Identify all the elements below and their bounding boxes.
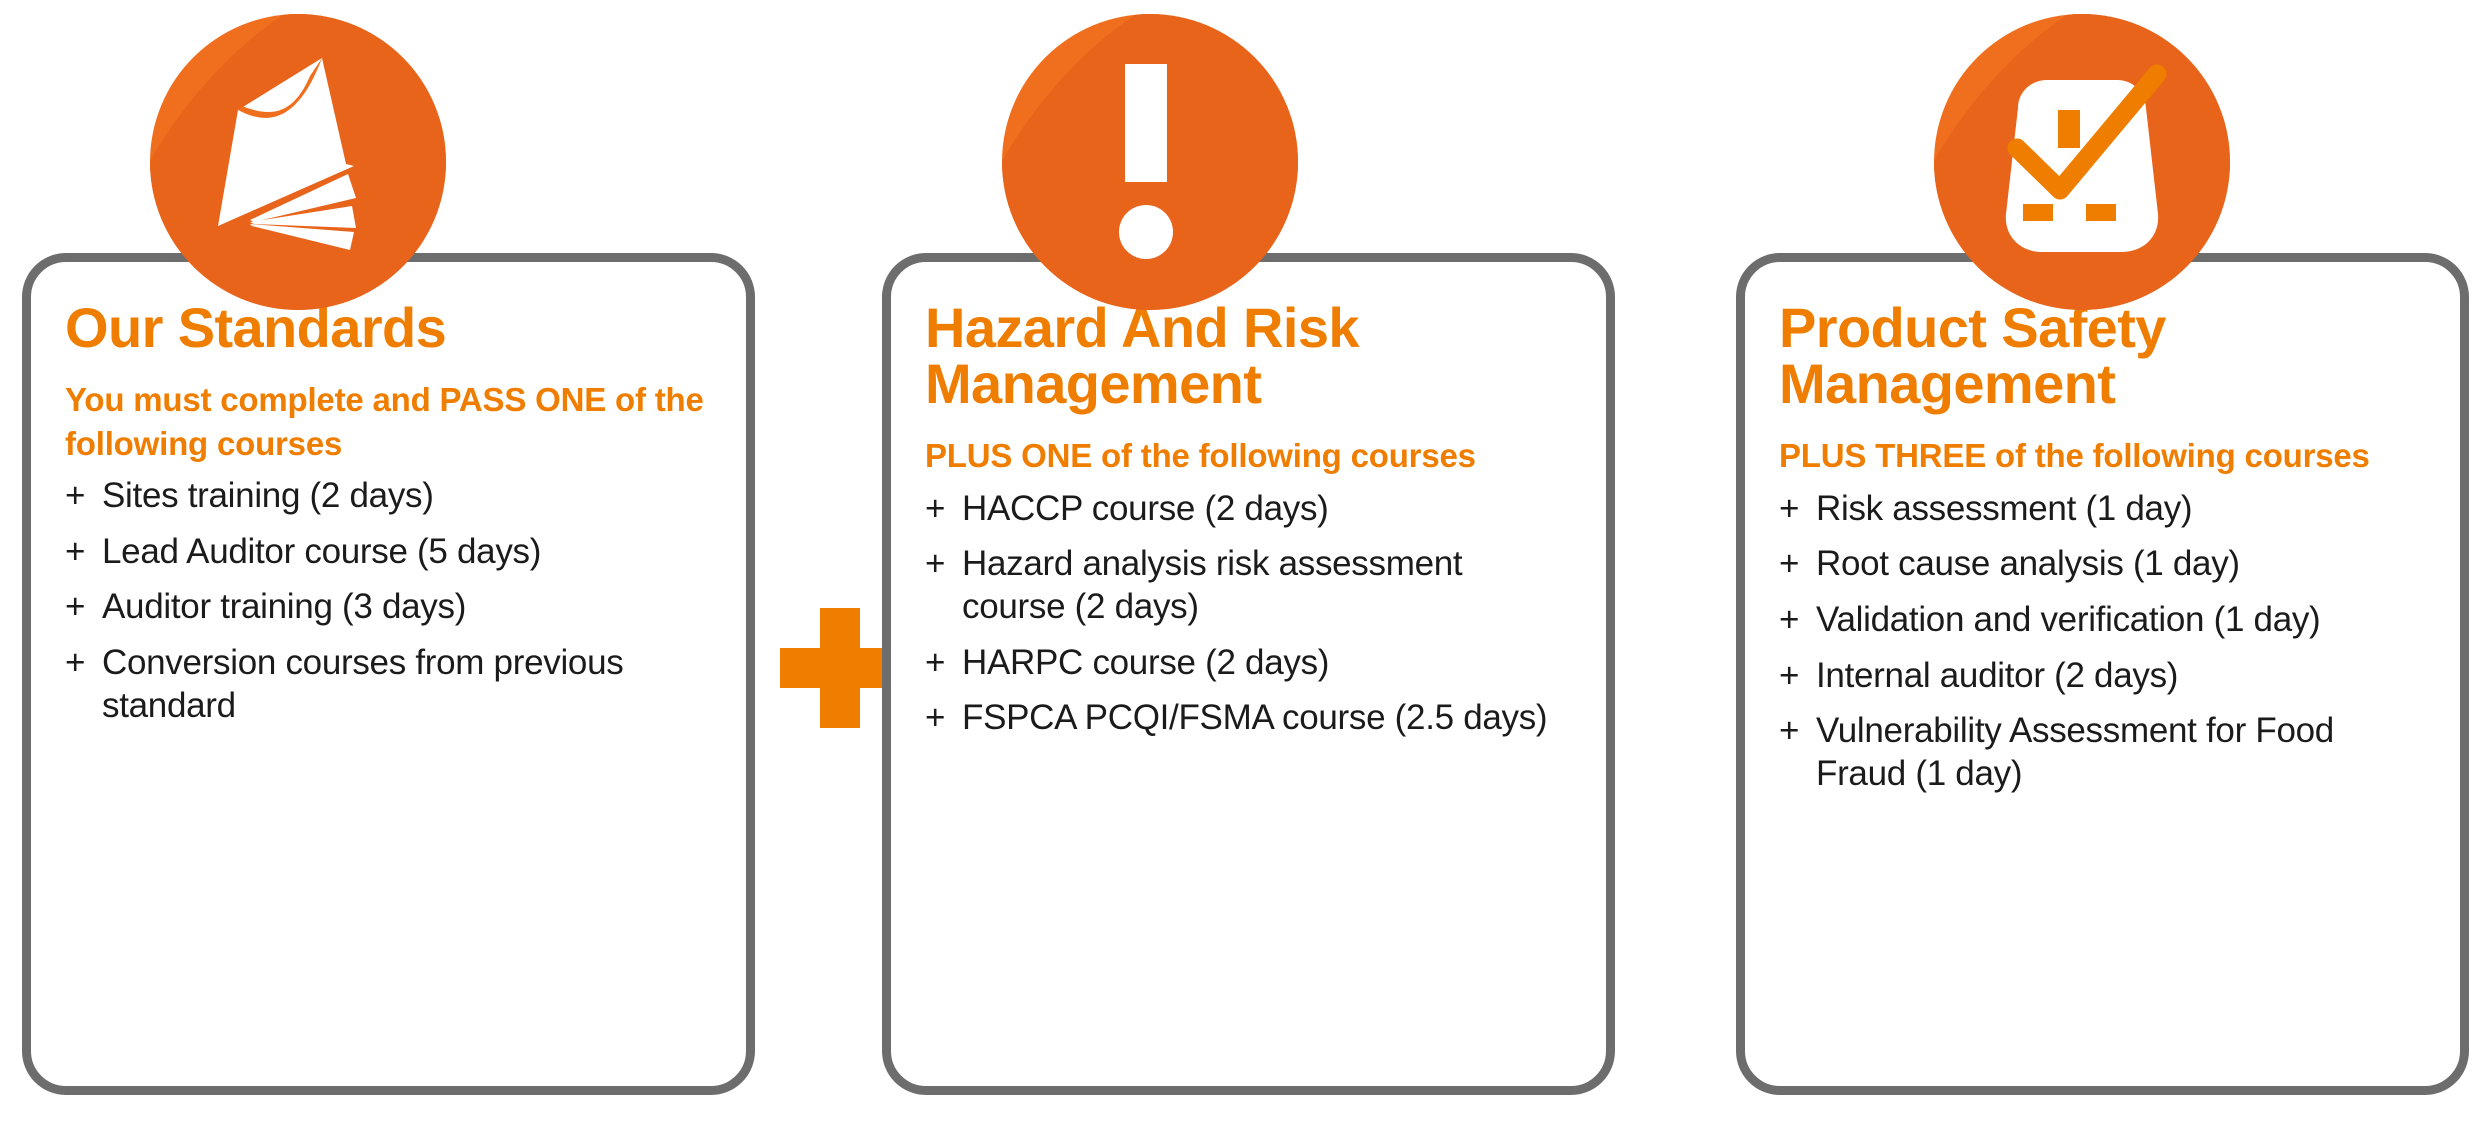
plus-bullet-icon: + <box>1779 599 1799 642</box>
list-item: + Internal auditor (2 days) <box>1779 655 2426 698</box>
list-item: + Sites training (2 days) <box>65 475 712 518</box>
plus-vertical-bar <box>820 608 860 728</box>
plus-bullet-icon: + <box>65 475 85 518</box>
card-body: Our Standards You must complete and PASS… <box>31 262 746 1086</box>
pathway-column-our-standards: Our Standards You must complete and PASS… <box>22 0 755 1121</box>
list-item-label: Hazard analysis risk assessment course (… <box>962 544 1462 626</box>
card-body: Hazard And Risk Management PLUS ONE of t… <box>891 262 1606 1086</box>
plus-bullet-icon: + <box>65 586 85 629</box>
list-item-label: Auditor training (3 days) <box>102 587 466 626</box>
checkmark-basket-icon <box>1934 14 2230 310</box>
card-subtitle: You must complete and PASS ONE of the fo… <box>65 378 712 465</box>
list-item: + Hazard analysis risk assessment course… <box>925 543 1572 628</box>
card-body: Product Safety Management PLUS THREE of … <box>1745 262 2460 1086</box>
plus-bullet-icon: + <box>925 543 945 586</box>
list-item: + Root cause analysis (1 day) <box>1779 543 2426 586</box>
list-item-label: FSPCA PCQI/FSMA course (2.5 days) <box>962 698 1547 737</box>
plus-bullet-icon: + <box>1779 488 1799 531</box>
list-item-label: Risk assessment (1 day) <box>1816 489 2192 528</box>
list-item-label: Sites training (2 days) <box>102 476 434 515</box>
list-item: + HARPC course (2 days) <box>925 642 1572 685</box>
plus-bullet-icon: + <box>1779 655 1799 698</box>
list-item-label: Validation and verification (1 day) <box>1816 600 2320 639</box>
card-title: Product Safety Management <box>1779 300 2426 412</box>
card-title: Hazard And Risk Management <box>925 300 1572 412</box>
pathway-column-hazard-risk: Hazard And Risk Management PLUS ONE of t… <box>882 0 1615 1121</box>
plus-bullet-icon: + <box>925 697 945 740</box>
list-item-label: Lead Auditor course (5 days) <box>102 532 541 571</box>
plus-bullet-icon: + <box>925 488 945 531</box>
course-list: + HACCP course (2 days) + Hazard analysi… <box>925 488 1572 740</box>
course-list: + Sites training (2 days) + Lead Auditor… <box>65 475 712 727</box>
plus-bullet-icon: + <box>925 642 945 685</box>
list-item-label: Internal auditor (2 days) <box>1816 656 2178 695</box>
list-item: + Vulnerability Assessment for Food Frau… <box>1779 710 2426 795</box>
card-subtitle: PLUS THREE of the following courses <box>1779 434 2426 478</box>
plus-bullet-icon: + <box>1779 543 1799 586</box>
certification-pathway-infographic: Our Standards You must complete and PASS… <box>0 0 2475 1121</box>
list-item-label: HARPC course (2 days) <box>962 643 1329 682</box>
list-item: + HACCP course (2 days) <box>925 488 1572 531</box>
list-item: + Validation and verification (1 day) <box>1779 599 2426 642</box>
card-product-safety-management: Product Safety Management PLUS THREE of … <box>1736 253 2469 1095</box>
list-item-label: HACCP course (2 days) <box>962 489 1329 528</box>
list-item-label: Vulnerability Assessment for Food Fraud … <box>1816 711 2334 793</box>
plus-bullet-icon: + <box>65 531 85 574</box>
course-list: + Risk assessment (1 day) + Root cause a… <box>1779 488 2426 796</box>
list-item: + FSPCA PCQI/FSMA course (2.5 days) <box>925 697 1572 740</box>
exclamation-mark-icon <box>1002 14 1298 310</box>
list-item-label: Root cause analysis (1 day) <box>1816 544 2240 583</box>
plus-bullet-icon: + <box>1779 710 1799 753</box>
list-item: + Auditor training (3 days) <box>65 586 712 629</box>
list-item-label: Conversion courses from previous standar… <box>102 643 623 725</box>
open-book-icon <box>150 14 446 310</box>
pathway-column-product-safety: Product Safety Management PLUS THREE of … <box>1736 0 2469 1121</box>
card-hazard-and-risk-management: Hazard And Risk Management PLUS ONE of t… <box>882 253 1615 1095</box>
plus-bullet-icon: + <box>65 642 85 685</box>
card-our-standards: Our Standards You must complete and PASS… <box>22 253 755 1095</box>
list-item: + Lead Auditor course (5 days) <box>65 531 712 574</box>
list-item: + Conversion courses from previous stand… <box>65 642 712 727</box>
list-item: + Risk assessment (1 day) <box>1779 488 2426 531</box>
card-subtitle: PLUS ONE of the following courses <box>925 434 1572 478</box>
